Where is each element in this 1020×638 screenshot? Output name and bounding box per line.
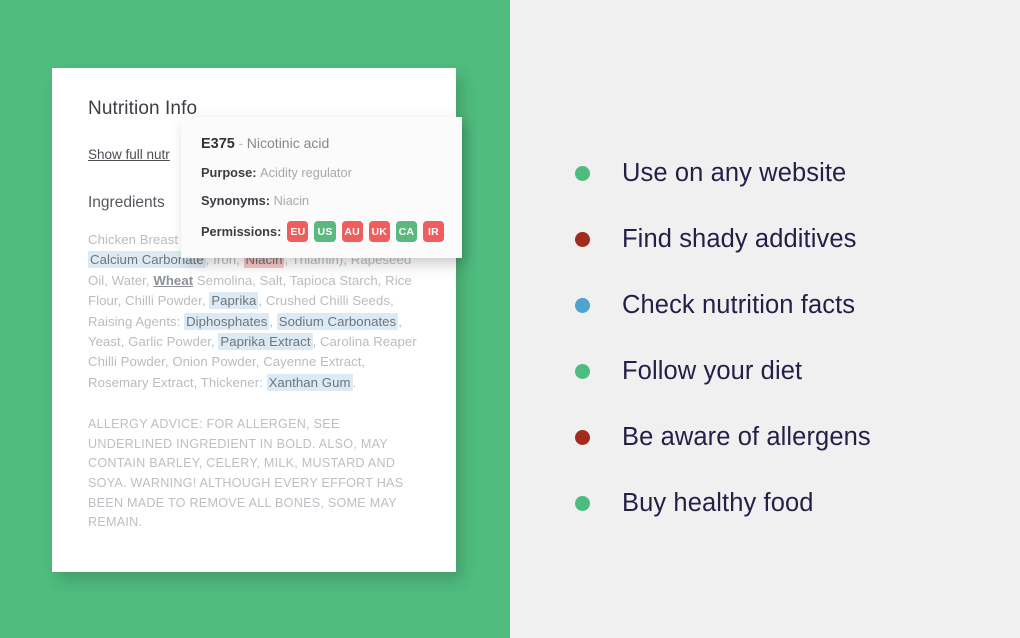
ingredient-text: , bbox=[258, 293, 262, 308]
feature-label: Check nutrition facts bbox=[622, 291, 855, 320]
permission-badge-eu[interactable]: EU bbox=[287, 221, 308, 242]
ingredient-text: Semolina, Salt, bbox=[193, 273, 286, 288]
additive-code: E375 bbox=[201, 136, 235, 152]
ingredient-text: Powder, Onion Powder, Cayenne Extract, bbox=[121, 354, 366, 369]
additive-name: Nicotinic acid bbox=[247, 135, 329, 151]
bullet-dot-icon bbox=[575, 364, 590, 379]
ingredient-text: Powder, bbox=[167, 334, 219, 349]
feature-item: Follow your diet bbox=[575, 338, 995, 404]
ingredient-text: , bbox=[269, 314, 276, 329]
feature-item: Use on any website bbox=[575, 140, 995, 206]
allergy-advice-text: ALLERGY ADVICE: FOR ALLERGEN, SEE UNDERL… bbox=[88, 415, 418, 533]
tooltip-permissions-row: Permissions: EUUSAUUKCAIR bbox=[201, 221, 444, 242]
show-full-nutrition-link[interactable]: Show full nutr bbox=[88, 147, 170, 162]
feature-label: Use on any website bbox=[622, 159, 846, 188]
permission-badge-ca[interactable]: CA bbox=[396, 221, 417, 242]
permissions-label: Permissions: bbox=[201, 224, 281, 239]
additive-paprika-extract[interactable]: Paprika Extract bbox=[218, 333, 312, 350]
permission-badge-us[interactable]: US bbox=[314, 221, 335, 242]
ingredient-text: . bbox=[353, 375, 357, 390]
ingredient-text: Rosemary Extract, Thickener: bbox=[88, 375, 267, 390]
feature-item: Check nutrition facts bbox=[575, 272, 995, 338]
permission-badge-au[interactable]: AU bbox=[342, 221, 363, 242]
additive-xanthan-gum[interactable]: Xanthan Gum bbox=[267, 374, 353, 391]
bullet-dot-icon bbox=[575, 430, 590, 445]
synonyms-label: Synonyms: bbox=[201, 193, 270, 208]
bullet-dot-icon bbox=[575, 232, 590, 247]
feature-item: Find shady additives bbox=[575, 206, 995, 272]
permission-badge-ir[interactable]: IR bbox=[423, 221, 444, 242]
additive-paprika[interactable]: Paprika bbox=[209, 292, 258, 309]
purpose-label: Purpose: bbox=[201, 165, 256, 180]
feature-item: Be aware of allergens bbox=[575, 404, 995, 470]
tooltip-dash: - bbox=[239, 135, 244, 151]
tooltip-synonyms-row: Synonyms: Niacin bbox=[201, 193, 444, 208]
additive-sodium-carbonates[interactable]: Sodium Carbonates bbox=[277, 313, 398, 330]
tooltip-header: E375 - Nicotinic acid bbox=[201, 135, 444, 152]
tooltip-purpose-row: Purpose: Acidity regulator bbox=[201, 165, 444, 180]
feature-list: Use on any websiteFind shady additivesCh… bbox=[575, 140, 995, 536]
bullet-dot-icon bbox=[575, 496, 590, 511]
bullet-dot-icon bbox=[575, 298, 590, 313]
additive-info-tooltip: E375 - Nicotinic acid Purpose: Acidity r… bbox=[181, 117, 462, 258]
feature-item: Buy healthy food bbox=[575, 470, 995, 536]
feature-label: Be aware of allergens bbox=[622, 423, 871, 452]
purpose-value: Acidity regulator bbox=[260, 165, 352, 180]
allergen-wheat: Wheat bbox=[153, 273, 193, 288]
synonyms-value: Niacin bbox=[274, 193, 310, 208]
bullet-dot-icon bbox=[575, 166, 590, 181]
feature-label: Buy healthy food bbox=[622, 489, 814, 518]
feature-label: Follow your diet bbox=[622, 357, 802, 386]
feature-label: Find shady additives bbox=[622, 225, 856, 254]
additive-diphosphates[interactable]: Diphosphates bbox=[184, 313, 269, 330]
permission-badge-uk[interactable]: UK bbox=[369, 221, 390, 242]
